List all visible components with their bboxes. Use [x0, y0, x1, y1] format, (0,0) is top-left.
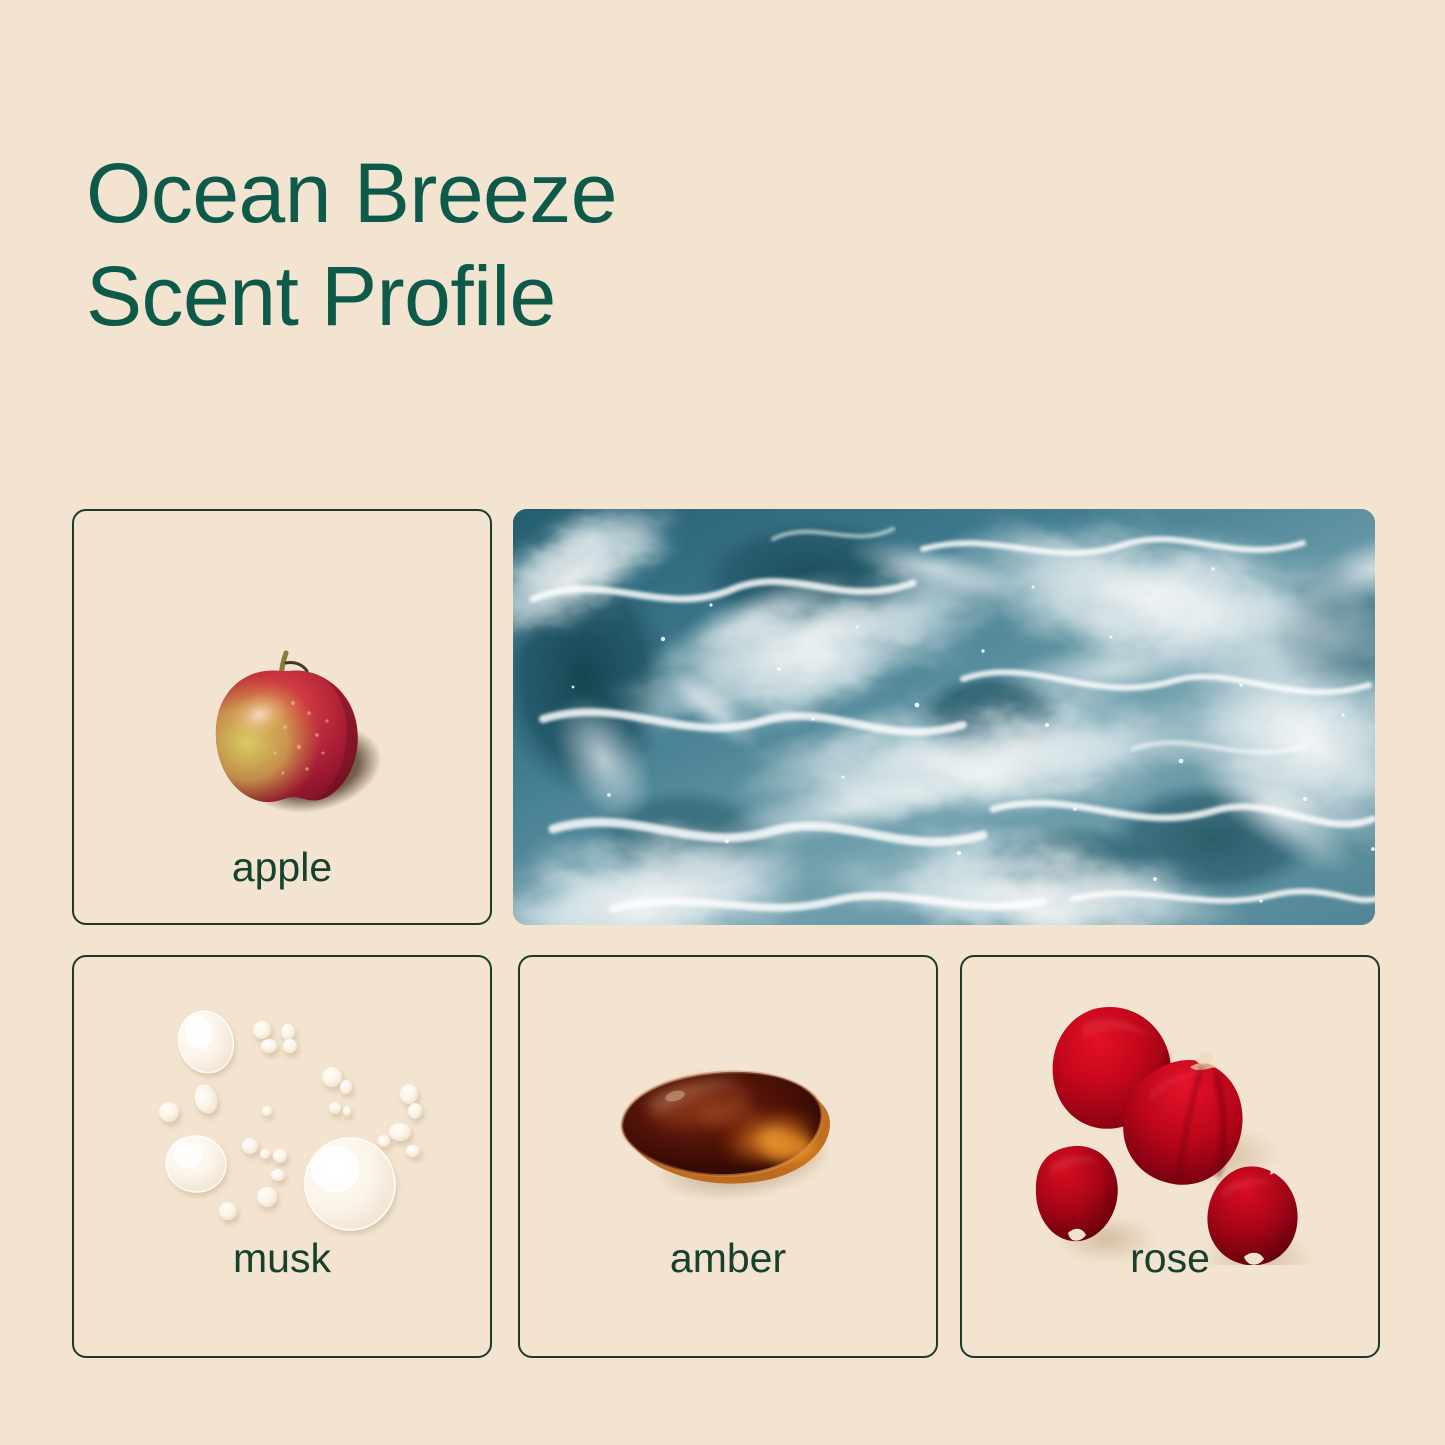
note-label-musk: musk — [74, 1235, 490, 1282]
note-label-apple: apple — [74, 844, 490, 891]
page-title-line-1: Ocean Breeze — [86, 142, 986, 244]
note-card-rose[interactable]: rose — [960, 955, 1380, 1358]
note-card-apple[interactable]: apple — [72, 509, 492, 925]
note-card-amber[interactable]: amber — [518, 955, 938, 1358]
page-title-line-2: Scent Profile — [86, 245, 986, 347]
page-title: Ocean Breeze Scent Profile — [86, 142, 986, 347]
apple-icon — [167, 641, 397, 831]
note-label-amber: amber — [520, 1235, 936, 1282]
ocean-wave-icon — [513, 509, 1375, 925]
rose-petals-icon — [1020, 995, 1320, 1265]
amber-stone-icon — [603, 1052, 853, 1212]
droplets-icon — [132, 999, 432, 1239]
note-label-rose: rose — [962, 1235, 1378, 1282]
note-card-musk[interactable]: musk — [72, 955, 492, 1358]
scent-profile-page: Ocean Breeze Scent Profile — [0, 0, 1445, 1445]
